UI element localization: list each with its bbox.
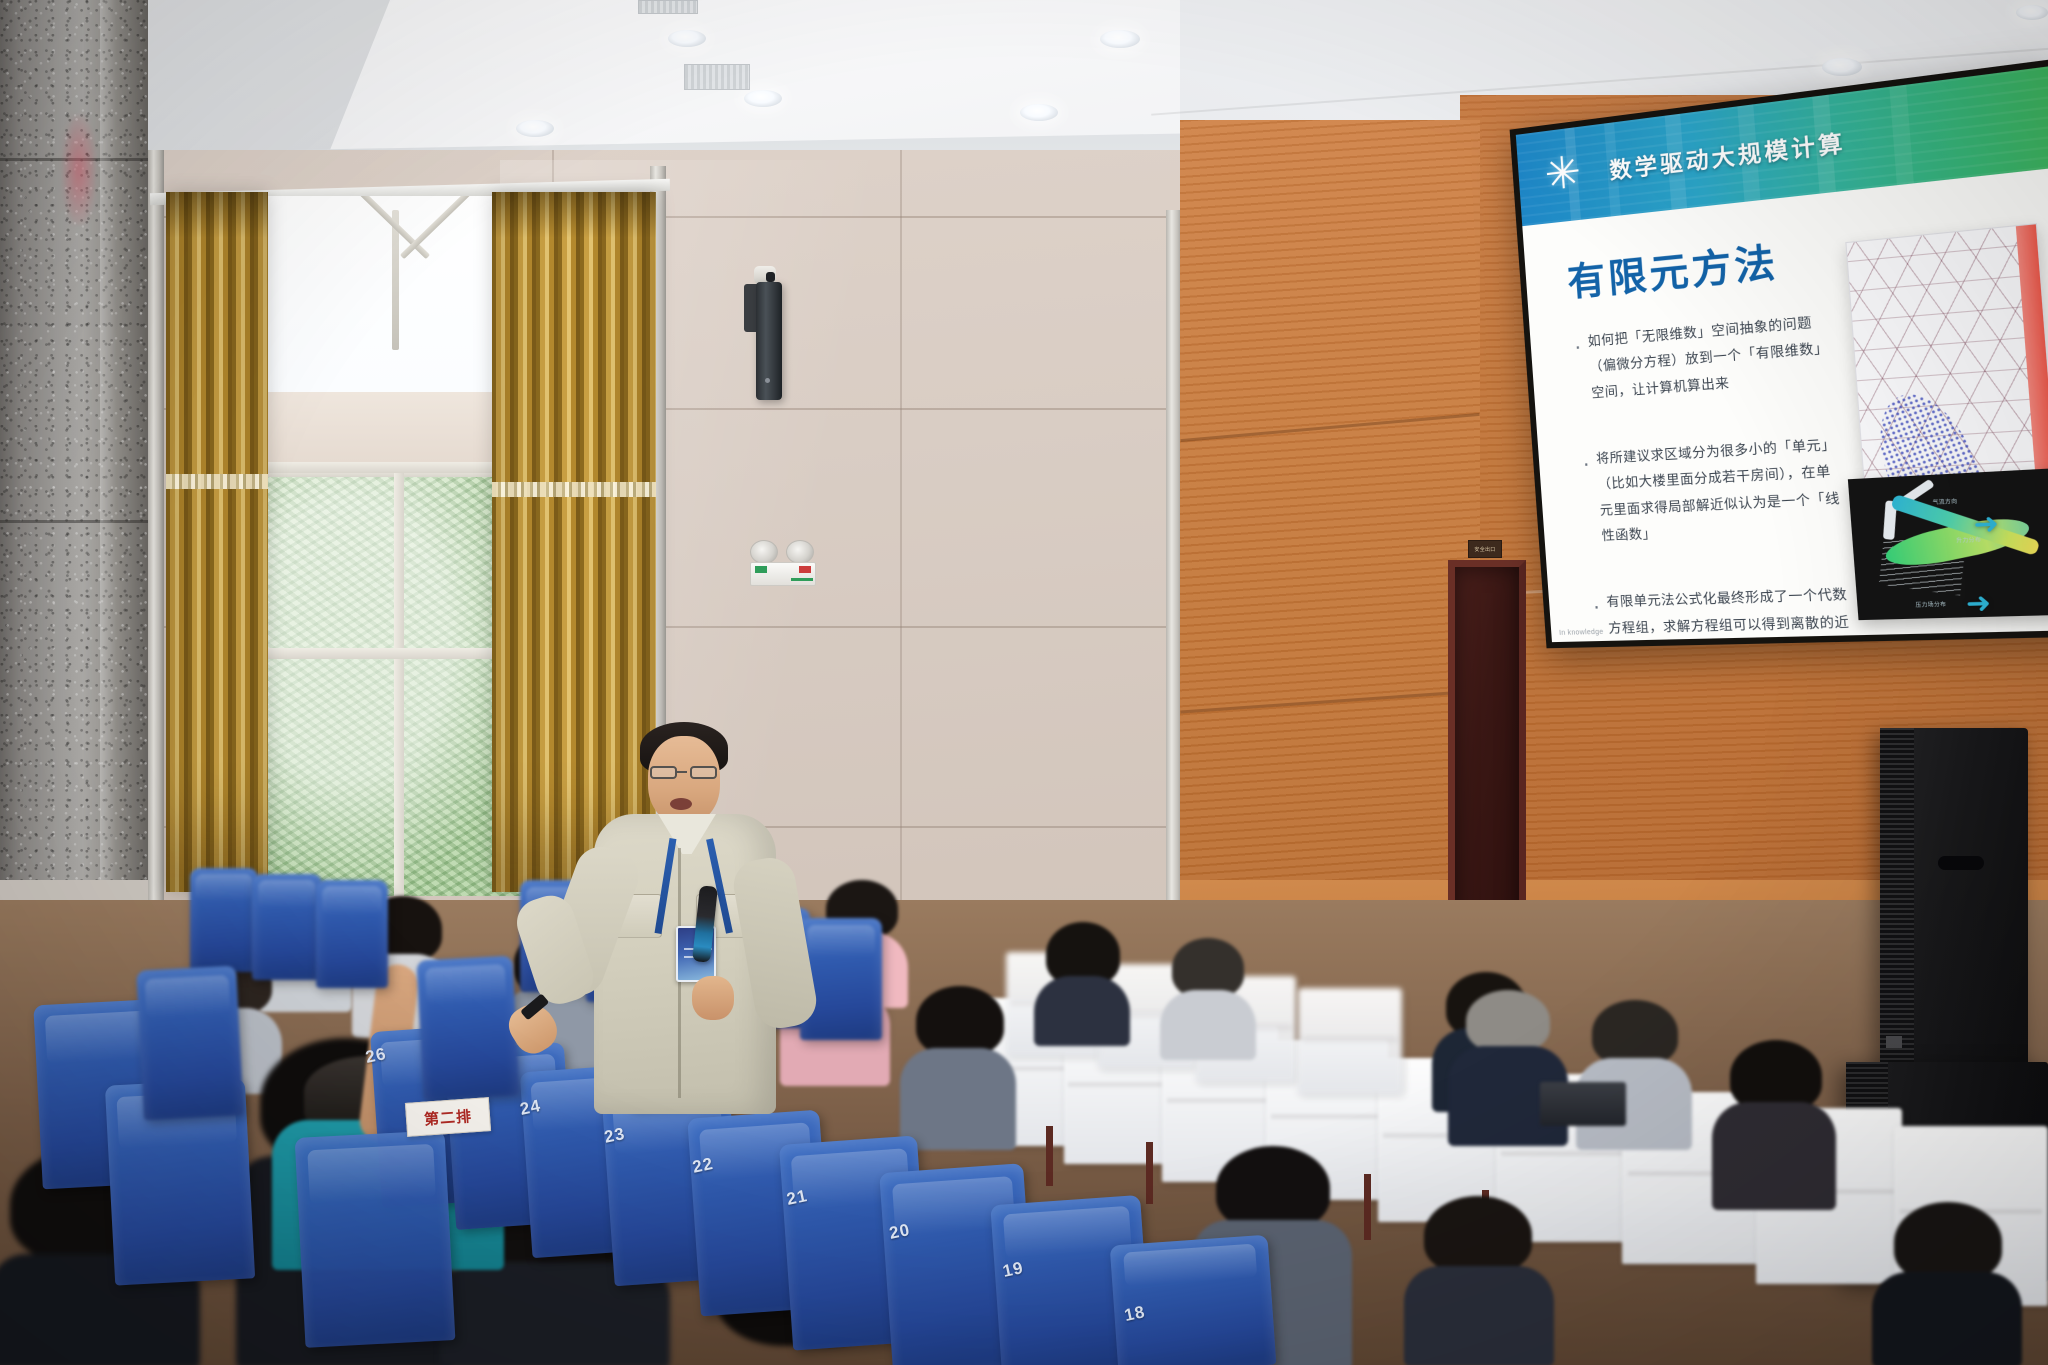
auditorium-seat[interactable]: [316, 880, 388, 988]
seat-fold: [145, 975, 231, 1018]
covered-chair: [1298, 988, 1402, 1094]
auditorium-seat[interactable]: [295, 1130, 456, 1348]
ceiling-air-vent: [638, 0, 698, 14]
seat-fold: [425, 964, 507, 1005]
glasses-bridge: [677, 771, 687, 773]
seat-number: 20: [887, 1220, 912, 1244]
projection-screen: ✳ 数学驱动大规模计算 有限元方法 如何把「无限维数」空间抽象的问题（偏微分方程…: [1510, 59, 2048, 649]
audience-member: [1160, 938, 1256, 1058]
chair-leg: [1364, 1174, 1371, 1240]
slide-bullet-item: 有限单元法公式化最终形成了一个代数方程组，求解方程组可以得到离散的近似解: [1592, 581, 1860, 642]
exit-sign-label: 安全出口: [1474, 546, 1495, 553]
row-sign: 第二排: [405, 1097, 491, 1137]
auditorium-seat[interactable]: [252, 874, 322, 980]
seat-number: 22: [691, 1154, 716, 1178]
column-gloss-highlight: [100, 0, 116, 880]
seat-number: 18: [1123, 1302, 1148, 1326]
audience-member: [1404, 1196, 1554, 1365]
slide-footnote: In knowledge: [1559, 629, 1604, 637]
presenter-head: [648, 736, 720, 824]
column-joint: [0, 520, 148, 523]
camera-lens-icon: [766, 272, 775, 282]
speaker-handle-icon: [1938, 856, 1984, 870]
column-speaker: [756, 282, 782, 400]
seat-fold: [258, 880, 317, 908]
chair-leg: [1146, 1142, 1153, 1204]
ceiling-downlight: [1100, 30, 1140, 48]
slide-bullet-list: 如何把「无限维数」空间抽象的问题（偏微分方程）放到一个「有限维数」空间，让计算机…: [1573, 307, 1863, 642]
flow-arrow-icon: ➜: [1965, 588, 1992, 617]
emergency-light-bar: [791, 578, 813, 581]
exit-sign: 安全出口: [1468, 540, 1502, 558]
audience-member: [1872, 1202, 2022, 1365]
seat-fold: [322, 886, 382, 914]
curtain-top-shadow: [492, 192, 656, 238]
slide-bullet-item: 将所建议求区域分为很多小的「单元」（比如大楼里面分成若干房间），在单元里面求得局…: [1581, 430, 1850, 549]
audience-member: [1576, 1000, 1692, 1150]
lecture-hall-photo: 安全出口 ✳ 数学驱动大规模计算 有限元方法: [0, 0, 2048, 1365]
seat-number: 26: [364, 1044, 389, 1068]
curtain-top-shadow: [166, 192, 268, 238]
seat-fold: [307, 1143, 436, 1204]
presentation-slide: ✳ 数学驱动大规模计算 有限元方法 如何把「无限维数」空间抽象的问题（偏微分方程…: [1516, 66, 2048, 642]
chair-leg: [1046, 1126, 1053, 1186]
curtain-trim-band: [492, 482, 656, 497]
auditorium-seat[interactable]: 18: [1110, 1235, 1277, 1365]
row-sign-label: 第二排: [423, 1105, 472, 1129]
speaker-grille: [1880, 728, 1914, 1078]
auditorium-seat[interactable]: [416, 956, 519, 1101]
emergency-light-unit: [748, 540, 820, 586]
wall-metal-trim: [148, 150, 164, 930]
audience-member-with-device: [1448, 990, 1568, 1150]
person-hair: [1466, 990, 1550, 1052]
seat-fold: [195, 874, 252, 901]
slide-title: 有限元方法: [1565, 230, 1780, 307]
emergency-lamp-head-icon: [750, 540, 778, 564]
auditorium-seat[interactable]: [190, 868, 258, 972]
person-torso: [1404, 1266, 1554, 1365]
curtain-left: [166, 192, 268, 892]
status-indicator-green: [755, 566, 767, 573]
presenter-mouth: [670, 798, 692, 810]
audience-member: [900, 986, 1016, 1146]
person-hair: [1894, 1202, 2002, 1282]
status-indicator-red: [799, 566, 811, 573]
ceiling-downlight: [744, 90, 782, 107]
ceiling-downlight: [668, 30, 706, 47]
seat-number: 19: [1001, 1258, 1026, 1282]
person-hair: [1424, 1196, 1532, 1274]
laptop-device: [1540, 1082, 1626, 1126]
person-torso: [1712, 1102, 1836, 1210]
seat-number: 24: [518, 1096, 543, 1120]
person-torso: [1872, 1272, 2022, 1365]
seat-number: 21: [785, 1186, 810, 1210]
person-hair: [1216, 1146, 1330, 1230]
glasses-left-lens: [650, 766, 677, 779]
seat-fold: [1123, 1243, 1258, 1286]
person-torso: [1034, 976, 1130, 1046]
pa-speaker-cabinet: [1880, 728, 2028, 1078]
person-hair: [916, 986, 1004, 1056]
presenter: [570, 718, 800, 1138]
auditorium-seat[interactable]: [136, 965, 244, 1120]
audience-member: [1034, 922, 1130, 1042]
cfd-annotation: 压力场分布: [1915, 600, 1946, 608]
person-hair: [1592, 1000, 1678, 1066]
presenter-right-hand: [692, 976, 734, 1020]
column-stain-mark: [62, 115, 96, 225]
glasses-icon: [650, 766, 720, 779]
person-torso: [900, 1048, 1016, 1150]
granite-column: [0, 0, 148, 880]
speaker-badge-icon: [1886, 1036, 1902, 1048]
glasses-right-lens: [690, 766, 717, 779]
cfd-annotation: 气流方向: [1932, 497, 1957, 506]
person-hair: [1172, 938, 1244, 998]
person-torso: [1160, 990, 1256, 1060]
seat-fold: [807, 925, 876, 957]
ceiling-downlight: [1020, 104, 1058, 121]
slide-bullet-item: 如何把「无限维数」空间抽象的问题（偏微分方程）放到一个「有限维数」空间，让计算机…: [1573, 307, 1839, 406]
audience-member: [1712, 1040, 1836, 1210]
window-mullion: [394, 468, 404, 896]
ceiling-downlight: [516, 120, 554, 137]
ceiling-downlight: [1822, 58, 1862, 76]
cfd-annotation: 升力分布: [1956, 536, 1982, 545]
flow-arrow-icon: ➜: [1972, 509, 2000, 539]
emergency-lamp-head-icon: [786, 540, 814, 564]
curtain-trim-band: [166, 474, 268, 489]
ceiling-downlight: [2016, 5, 2048, 20]
speaker-led-icon: [765, 378, 770, 383]
aircraft-cfd-image: ➜ ➜ 气流方向 升力分布 压力场分布: [1848, 468, 2048, 620]
ceiling-air-vent: [684, 64, 750, 90]
emergency-light-body: [750, 562, 816, 586]
conference-logo-icon: ✳: [1530, 139, 1595, 208]
